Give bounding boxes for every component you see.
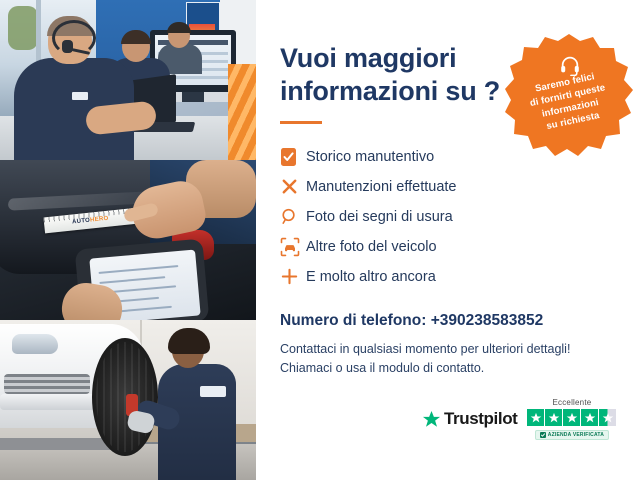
trustpilot-rating: Eccellente AZIENDA VERIFICATA — [527, 398, 616, 440]
verified-check-icon — [540, 432, 546, 438]
vehicle-inspection-photo: AUTOHERO — [0, 160, 256, 320]
verified-label: AZIENDA VERIFICATA — [548, 432, 604, 438]
phone-number-line: Numero di telefono: +390238583852 — [280, 312, 543, 330]
page-title: Vuoi maggiori informazioni su ? — [280, 42, 510, 108]
tablet-row — [99, 276, 165, 284]
monitor-stand — [182, 92, 204, 102]
accent-divider — [280, 121, 322, 124]
autohero-info-banner: AUTOHERO — [0, 0, 640, 480]
headline-line-2: informazioni su ? — [280, 75, 510, 108]
call-center-agents-photo — [0, 0, 256, 160]
list-item: E molto altro ancora — [280, 262, 610, 291]
contact-note-line-1: Contattaci in qualsiasi momento per ulte… — [280, 340, 610, 359]
tablet-row — [99, 265, 179, 274]
ruler-brand-hero: HERO — [90, 216, 109, 224]
contact-note: Contattaci in qualsiasi momento per ulte… — [280, 340, 610, 378]
star-filled — [563, 409, 580, 426]
window-foliage — [8, 6, 38, 50]
star-half — [599, 409, 616, 426]
list-item: Altre foto del veicolo — [280, 232, 610, 261]
trustpilot-logo: Trustpilot — [422, 409, 517, 429]
trustpilot-widget[interactable]: Trustpilot Eccellente AZIENDA VERIFICATA — [422, 398, 616, 440]
mechanic-name-tag — [200, 386, 226, 397]
orange-equipment — [228, 64, 256, 160]
rating-label: Eccellente — [552, 398, 591, 407]
list-item-label: Manutenzioni effettuate — [306, 179, 456, 195]
list-item-label: E molto altro ancora — [306, 269, 436, 285]
list-item: Manutenzioni effettuate — [280, 172, 610, 201]
trustpilot-wordmark: Trustpilot — [444, 409, 517, 429]
tire-tread — [96, 342, 154, 452]
agent-one-name-tag — [72, 92, 88, 100]
status-badge: Saremo felici di fornirti queste informa… — [505, 32, 633, 162]
headline-line-1: Vuoi maggiori — [280, 42, 510, 75]
car-grille — [4, 374, 90, 394]
car-scan-icon — [280, 236, 306, 258]
vehicle-lift — [0, 438, 118, 450]
list-item-label: Foto dei segni di usura — [306, 209, 453, 225]
workshop-mechanic-photo — [0, 320, 256, 480]
car-headlight — [12, 334, 58, 354]
checklist-icon — [280, 146, 306, 168]
agent-one-headset-earpiece — [62, 40, 73, 53]
star-filled — [581, 409, 598, 426]
list-item-label: Storico manutentivo — [306, 149, 434, 165]
magnifier-icon — [280, 206, 306, 228]
feature-list: Storico manutentivo Manutenzioni effettu… — [280, 142, 610, 292]
plus-icon — [280, 266, 306, 288]
contact-note-line-2: Chiamaci o usa il modulo di contatto. — [280, 359, 610, 378]
list-item: Foto dei segni di usura — [280, 202, 610, 231]
tools-icon — [280, 176, 306, 198]
list-item-label: Altre foto del veicolo — [306, 239, 437, 255]
phone-number[interactable]: +390238583852 — [431, 312, 544, 329]
photo-column: AUTOHERO — [0, 0, 256, 480]
star-filled — [545, 409, 562, 426]
phone-label: Numero di telefono: — [280, 312, 426, 329]
rating-stars — [527, 409, 616, 426]
car-bumper — [0, 394, 104, 410]
trustpilot-star-icon — [422, 410, 441, 429]
star-filled — [527, 409, 544, 426]
status-badge: AZIENDA VERIFICATA — [535, 430, 609, 440]
